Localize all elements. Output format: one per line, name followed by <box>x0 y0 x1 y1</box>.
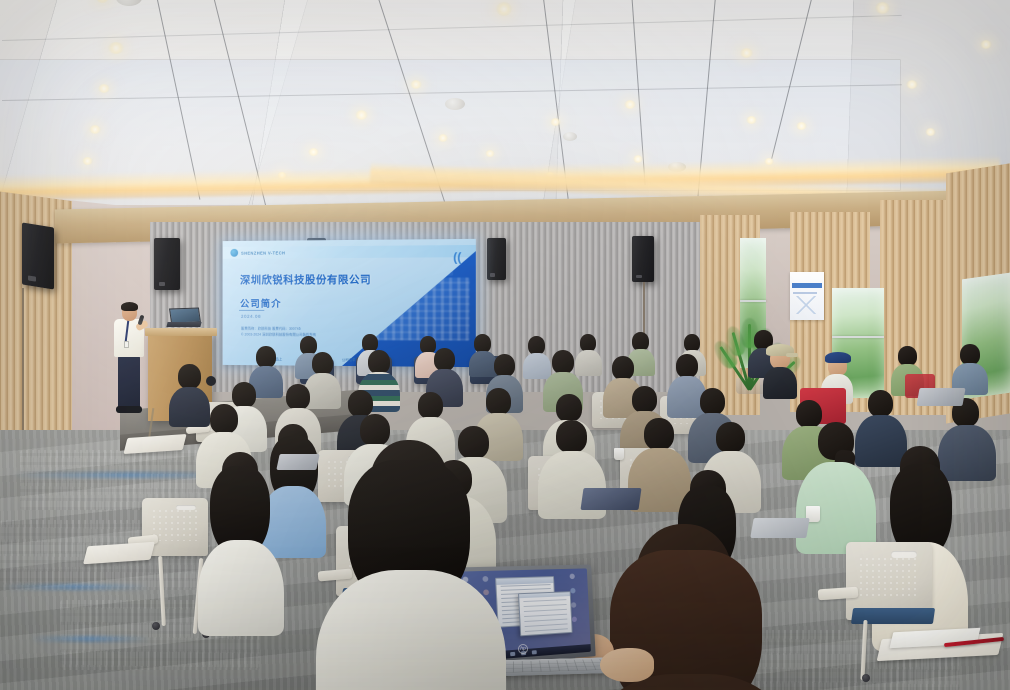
audience-torso <box>763 367 797 399</box>
spreadsheet-dialog-window[interactable] <box>518 591 572 637</box>
slide-header-bar: SHENZHEN V-TECH <box>223 245 476 259</box>
baseball-cap-icon <box>825 352 851 363</box>
audience-torso <box>855 415 907 467</box>
audience-torso <box>169 387 210 427</box>
attendee-laptop <box>580 488 641 510</box>
window-content-rows <box>524 598 568 632</box>
taskbar-item[interactable] <box>532 650 537 655</box>
audience-head <box>286 384 310 410</box>
audience-head <box>418 392 443 419</box>
chair-tablet-arm <box>83 542 155 565</box>
recessed-downlight <box>108 42 124 54</box>
recessed-downlight <box>410 80 422 89</box>
audience-head <box>434 348 455 371</box>
audience-head <box>368 350 390 374</box>
audience-head <box>256 346 276 368</box>
slide-arc-mark: (( <box>453 251 461 263</box>
audience-head <box>232 382 256 408</box>
typing-hand <box>600 648 654 682</box>
notice-header-band <box>792 283 822 288</box>
slide-title: 深圳欣锐科技股份有限公司 <box>240 272 371 287</box>
audience-torso <box>260 486 326 558</box>
recessed-downlight <box>746 116 757 124</box>
attendee-laptop <box>276 454 319 470</box>
recessed-downlight <box>355 110 368 120</box>
audience-torso <box>304 373 341 409</box>
hp-logo-icon: hp <box>518 644 528 654</box>
podium-laptop-base <box>166 322 201 327</box>
audience-head <box>360 414 390 446</box>
chair-perforation <box>858 556 920 600</box>
audience-head <box>644 418 674 450</box>
audience-torso <box>938 425 996 481</box>
recessed-downlight <box>438 134 448 142</box>
audience-head <box>716 422 745 453</box>
chair-caster <box>152 622 160 630</box>
notice-line <box>793 292 817 294</box>
audience-head <box>348 390 373 417</box>
cap-brim <box>786 353 798 357</box>
recessed-downlight <box>925 128 936 136</box>
chair-handle-slot <box>891 551 917 558</box>
audience-head <box>552 350 574 374</box>
audience-head <box>458 426 489 459</box>
audience-head <box>494 354 515 377</box>
attendee-laptop <box>750 518 810 538</box>
audience-head <box>312 352 333 375</box>
recessed-downlight <box>796 122 807 130</box>
audience-head <box>632 386 657 413</box>
wall-speaker <box>632 236 654 282</box>
recessed-downlight <box>485 150 495 157</box>
chair-leg <box>158 556 166 626</box>
recessed-downlight <box>550 118 561 126</box>
audience-head <box>898 346 917 366</box>
audience-head <box>210 404 238 434</box>
audience-head <box>556 420 587 453</box>
chair-handle-slot <box>176 505 196 510</box>
chair-leg <box>860 620 867 680</box>
audience-head <box>486 388 511 415</box>
chair-caster <box>862 674 870 682</box>
recessed-downlight <box>496 2 512 16</box>
recessed-downlight <box>308 148 319 156</box>
audience-head <box>178 364 201 389</box>
audience-head <box>868 390 893 417</box>
audience-head <box>612 356 634 380</box>
wall-speaker <box>22 222 54 289</box>
paper-cup <box>614 448 624 460</box>
smoke-detector <box>445 98 465 110</box>
audience-torso <box>198 540 284 636</box>
attendee-laptop <box>916 388 965 406</box>
recessed-downlight <box>740 48 753 58</box>
recessed-downlight <box>875 2 890 14</box>
conference-room-photo: SHENZHEN V-TECH (( 深圳欣锐科技股份有限公司 公司简介 202… <box>0 0 1010 690</box>
audience-torso <box>469 351 497 377</box>
audience-torso <box>575 350 602 376</box>
company-logo-icon <box>230 249 238 257</box>
slide-subtitle: 公司简介 <box>240 296 282 310</box>
notice-graphic <box>793 296 821 314</box>
recessed-downlight <box>624 100 636 109</box>
recessed-downlight <box>98 84 110 93</box>
recessed-downlight <box>82 157 93 165</box>
audience-head <box>960 344 980 365</box>
audience-head <box>556 394 582 422</box>
audience-head <box>700 388 725 415</box>
audience-torso <box>523 353 551 379</box>
wall-speaker <box>154 238 180 290</box>
recessed-downlight <box>906 80 918 89</box>
slide-date: 2024.08 <box>241 314 261 319</box>
audience-head <box>676 354 698 378</box>
recessed-downlight <box>89 125 101 134</box>
recessed-downlight <box>980 40 992 49</box>
smoke-detector <box>563 132 577 141</box>
chair-perforation <box>151 508 199 540</box>
slide-logo-text: SHENZHEN V-TECH <box>241 250 285 255</box>
wall-mounted-notice <box>790 272 824 320</box>
presenter-hair <box>121 302 138 311</box>
taskbar-item[interactable] <box>510 652 515 657</box>
chair-tablet-arm <box>123 434 186 454</box>
wristwatch <box>206 376 216 386</box>
audience-head <box>796 400 822 428</box>
